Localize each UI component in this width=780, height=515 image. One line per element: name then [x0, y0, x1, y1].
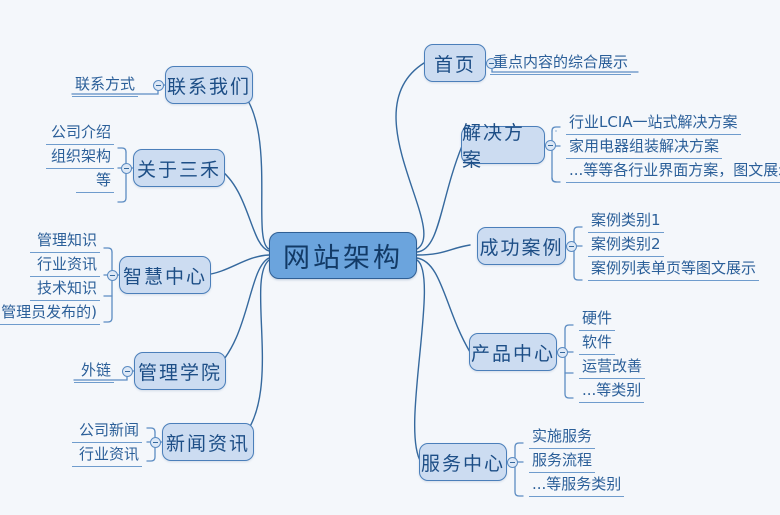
topic-node-lianxiwomen[interactable]: 联系我们	[165, 66, 253, 104]
collapse-minus-icon[interactable]	[150, 437, 161, 448]
topic-node-chanpinzhongxin[interactable]: 产品中心	[469, 333, 557, 371]
topic-node-xinwenzixun[interactable]: 新闻资讯	[162, 423, 254, 461]
leaf-node[interactable]: 行业资讯	[30, 254, 100, 277]
leaf-node[interactable]: 家用电器组装解决方案	[566, 136, 722, 159]
topic-node-jiejuefangan[interactable]: 解决方案	[461, 126, 545, 164]
leaf-node[interactable]: 行业LCIA一站式解决方案	[566, 112, 741, 135]
collapse-minus-icon[interactable]	[566, 241, 577, 252]
topic-node-guanlixueyuan[interactable]: 管理学院	[134, 352, 226, 390]
leaf-node[interactable]: 技术知识	[30, 278, 100, 301]
leaf-node[interactable]: 运营改善	[579, 356, 645, 379]
topic-node-guanyusanhe[interactable]: 关于三禾	[133, 149, 225, 187]
leaf-node[interactable]: 管理知识	[30, 230, 100, 253]
leaf-node[interactable]: 案例列表单页等图文展示	[588, 258, 759, 281]
leaf-node[interactable]: 公司介绍	[46, 122, 114, 145]
leaf-node[interactable]: ...等等各行业界面方案，图文展示	[566, 160, 780, 183]
topic-node-fuwuzhongxin[interactable]: 服务中心	[419, 443, 507, 481]
leaf-node[interactable]: 案例类别2	[588, 234, 664, 257]
leaf-node[interactable]: ...等服务类别	[529, 474, 624, 497]
leaf-node[interactable]: 重点内容的综合展示	[490, 52, 631, 75]
leaf-node[interactable]: 硬件	[579, 308, 615, 331]
leaf-node[interactable]: 公司新闻	[72, 420, 142, 443]
leaf-node[interactable]: 案例类别1	[588, 210, 664, 233]
leaf-node[interactable]: 行业资讯	[72, 444, 142, 467]
leaf-node[interactable]: ...等类别	[579, 380, 644, 403]
collapse-minus-icon[interactable]	[557, 347, 568, 358]
collapse-minus-icon[interactable]	[107, 270, 118, 281]
collapse-minus-icon[interactable]	[122, 366, 133, 377]
root-node[interactable]: 网站架构	[269, 232, 417, 279]
mindmap-canvas: 网站架构 首页 重点内容的综合展示 解决方案 行业LCIA一站式解决方案 家用电…	[0, 0, 780, 515]
topic-node-chenggonganli[interactable]: 成功案例	[477, 227, 566, 265]
leaf-node[interactable]: (管理员发布的)	[0, 302, 100, 325]
collapse-minus-icon[interactable]	[153, 80, 164, 91]
leaf-node[interactable]: 等	[76, 170, 114, 193]
leaf-node[interactable]: 组织架构	[46, 146, 114, 169]
collapse-minus-icon[interactable]	[121, 163, 132, 174]
topic-node-zhihuizhongxin[interactable]: 智慧中心	[119, 256, 211, 294]
leaf-node[interactable]: 软件	[579, 332, 615, 355]
leaf-node[interactable]: 实施服务	[529, 426, 595, 449]
leaf-node[interactable]: 联系方式	[72, 74, 138, 97]
collapse-minus-icon[interactable]	[507, 457, 518, 468]
collapse-minus-icon[interactable]	[545, 140, 556, 151]
topic-node-shouye[interactable]: 首页	[424, 44, 486, 82]
leaf-node[interactable]: 外链	[74, 360, 114, 383]
leaf-node[interactable]: 服务流程	[529, 450, 595, 473]
